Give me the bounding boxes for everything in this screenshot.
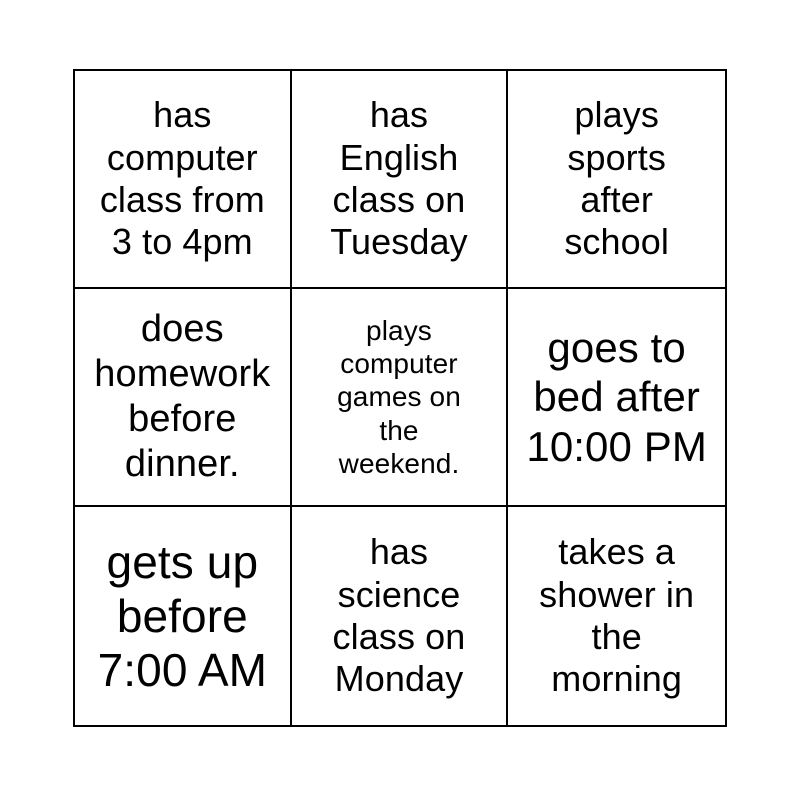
bingo-cell-text: plays sports after school (514, 94, 719, 264)
bingo-cell-row1-col3[interactable]: plays sports after school (508, 71, 725, 289)
bingo-cell-row2-col2[interactable]: plays computer games on the weekend. (292, 289, 509, 507)
bingo-cell-text: gets up before 7:00 AM (81, 535, 284, 698)
bingo-cell-row2-col1[interactable]: does homework before dinner. (75, 289, 292, 507)
bingo-cell-text: does homework before dinner. (81, 307, 284, 486)
bingo-cell-text: takes a shower in the morning (514, 531, 719, 701)
bingo-cell-text: has computer class from 3 to 4pm (81, 94, 284, 264)
bingo-cell-text: has science class on Monday (298, 531, 501, 701)
bingo-cell-text: has English class on Tuesday (298, 94, 501, 264)
bingo-cell-row3-col1[interactable]: gets up before 7:00 AM (75, 507, 292, 725)
bingo-cell-row2-col3[interactable]: goes to bed after 10:00 PM (508, 289, 725, 507)
bingo-cell-row3-col2[interactable]: has science class on Monday (292, 507, 509, 725)
bingo-cell-row1-col2[interactable]: has English class on Tuesday (292, 71, 509, 289)
bingo-cell-text: goes to bed after 10:00 PM (514, 323, 719, 472)
bingo-cell-text: plays computer games on the weekend. (298, 314, 501, 479)
bingo-cell-row3-col3[interactable]: takes a shower in the morning (508, 507, 725, 725)
bingo-page: has computer class from 3 to 4pm has Eng… (0, 0, 800, 800)
bingo-card-grid: has computer class from 3 to 4pm has Eng… (73, 69, 727, 727)
bingo-cell-row1-col1[interactable]: has computer class from 3 to 4pm (75, 71, 292, 289)
